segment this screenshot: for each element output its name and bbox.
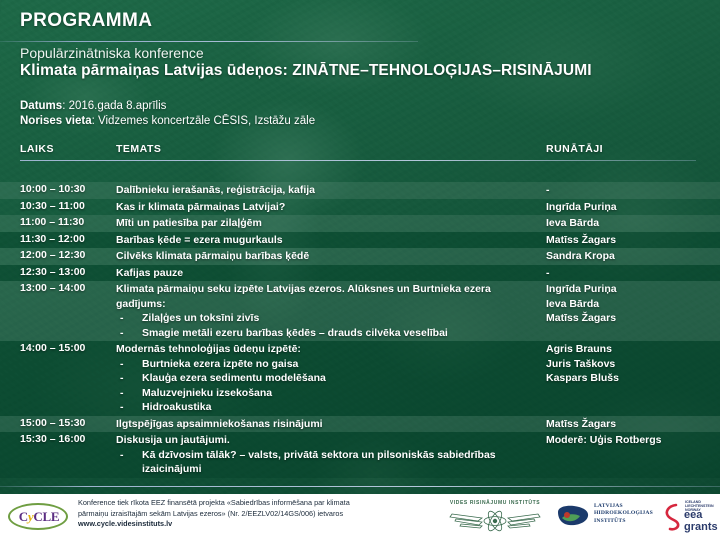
topic-subitem: -Maluzvejnieku izsekošana xyxy=(116,386,540,401)
speaker-name: Matīss Žagars xyxy=(546,417,716,432)
topic-subitem: -Kā dzīvosim tālāk? – valsts, privātā se… xyxy=(116,448,540,477)
table-row: 13:00 – 14:00Klimata pārmaiņu seku izpēt… xyxy=(0,281,720,341)
subitem-dash-icon: - xyxy=(120,326,124,341)
speaker-name: Juris Taškovs xyxy=(546,357,716,372)
speaker-name: Sandra Kropa xyxy=(546,249,716,264)
column-header-topic: TEMATS xyxy=(116,143,161,155)
cell-topic: Kas ir klimata pārmaiņas Latvijai? xyxy=(116,200,540,215)
speaker-name: Kaspars Blušs xyxy=(546,371,716,386)
cycle-letters-cle: CLE xyxy=(33,509,59,524)
table-row-inner: 10:30 – 11:00Kas ir klimata pārmaiņas La… xyxy=(0,199,720,216)
topic-subitem: -Hidroakustika xyxy=(116,400,540,415)
cell-speakers: - xyxy=(546,183,716,198)
slide: PROGRAMMA Populārzinātniska konference K… xyxy=(0,0,720,540)
table-row: 14:00 – 15:00Modernās tehnoloģijas ūdeņu… xyxy=(0,341,720,416)
lhei-emblem-icon xyxy=(556,504,590,528)
event-venue-line: Norises vieta: Vidzemes koncertzāle CĒSI… xyxy=(20,114,315,129)
cell-topic: Mīti un patiesība par zilaļģēm xyxy=(116,216,540,231)
cell-time: 10:00 – 10:30 xyxy=(20,183,112,195)
subtitle: Populārzinātniska konference xyxy=(20,45,204,61)
event-venue-value: : Vidzemes koncertzāle CĒSIS, Izstāžu zā… xyxy=(92,115,316,127)
speaker-name: Matīss Žagars xyxy=(546,311,716,326)
footer-line-1: Konference tiek rīkota EEZ finansētā pro… xyxy=(78,498,438,509)
event-date-value: : 2016.gada 8.aprīlis xyxy=(62,100,166,112)
eea-wordmark-line-2: grants xyxy=(684,522,718,534)
topic-main-text: Cilvēks klimata pārmaiņu barības ķēdē xyxy=(116,250,309,262)
cell-speakers: Moderē: Uģis Rotbergs xyxy=(546,433,716,448)
cell-topic: Kafijas pauze xyxy=(116,266,540,281)
table-row-inner: 14:00 – 15:00Modernās tehnoloģijas ūdeņu… xyxy=(0,341,720,416)
cell-speakers: Ieva Bārda xyxy=(546,216,716,231)
cell-speakers: Ingrīda Puriņa xyxy=(546,200,716,215)
event-meta: Datums: 2016.gada 8.aprīlis Norises viet… xyxy=(20,99,315,129)
lhei-label-line-1: LATVIJAS xyxy=(594,503,660,510)
table-row: 12:00 – 12:30Cilvēks klimata pārmaiņu ba… xyxy=(0,248,720,265)
cell-speakers: Matīss Žagars xyxy=(546,417,716,432)
table-row-inner: 11:00 – 11:30Mīti un patiesība par zilaļ… xyxy=(0,215,720,232)
table-row-inner: 15:00 – 15:30Ilgtspējīgas apsaimniekošan… xyxy=(0,416,720,433)
cell-topic: Ilgtspējīgas apsaimniekošanas risinājumi xyxy=(116,417,540,432)
topic-main-text: Klimata pārmaiņu seku izpēte Latvijas ez… xyxy=(116,283,491,310)
vides-risinajumu-instituts-logo: VIDES RISINĀJUMU INSTITŪTS xyxy=(448,500,542,534)
lhei-logo-label: LATVIJAS HIDROEKOLOĢIJAS INSTITŪTS xyxy=(594,503,660,525)
subitem-dash-icon: - xyxy=(120,311,124,326)
speaker-name: Ingrīda Puriņa xyxy=(546,200,716,215)
cell-speakers: Ingrīda PuriņaIeva BārdaMatīss Žagars xyxy=(546,282,716,326)
page-title: PROGRAMMA xyxy=(20,10,152,32)
cycle-logo: CyCLE xyxy=(8,500,70,534)
table-row-inner: 12:00 – 12:30Cilvēks klimata pārmaiņu ba… xyxy=(0,248,720,265)
speaker-name: Matīss Žagars xyxy=(546,233,716,248)
table-row: 10:00 – 10:30Dalībnieku ierašanās, reģis… xyxy=(0,182,720,199)
table-row: 12:30 – 13:00Kafijas pauze- xyxy=(0,265,720,282)
eea-grants-logo: ICELAND LIECHTENSTEIN NORWAY eea grants xyxy=(664,499,720,535)
cell-topic: Diskusija un jautājumi.-Kā dzīvosim tālā… xyxy=(116,433,540,477)
program-table: LAIKS TEMATS RUNĀTĀJI 10:00 – 10:30Dalīb… xyxy=(0,143,720,478)
cell-topic: Dalībnieku ierašanās, reģistrācija, kafi… xyxy=(116,183,540,198)
topic-main-text: Diskusija un jautājumi. xyxy=(116,434,230,446)
cell-speakers: Matīss Žagars xyxy=(546,233,716,248)
footer-line-2: pārmaiņu izraisītajām sekām Latvijas eze… xyxy=(78,509,438,520)
topic-subitem: -Zilaļģes un toksīni zivīs xyxy=(116,311,540,326)
table-header: LAIKS TEMATS RUNĀTĀJI xyxy=(0,143,720,160)
topic-main-text: Kafijas pauze xyxy=(116,267,183,279)
subitem-dash-icon: - xyxy=(120,448,124,463)
lhei-label-line-3: INSTITŪTS xyxy=(594,518,660,525)
conference-title: Klimata pārmaiņas Latvijas ūdeņos: ZINĀT… xyxy=(20,62,592,80)
cell-time: 14:00 – 15:00 xyxy=(20,342,112,354)
topic-main-text: Mīti un patiesība par zilaļģēm xyxy=(116,217,262,229)
topic-main-text: Kas ir klimata pārmaiņas Latvijai? xyxy=(116,201,285,213)
cell-time: 10:30 – 11:00 xyxy=(20,200,112,212)
speaker-name: - xyxy=(546,183,716,198)
cycle-wordmark: CyCLE xyxy=(8,509,70,525)
cell-speakers: Agris BraunsJuris TaškovsKaspars Blušs xyxy=(546,342,716,386)
table-header-divider xyxy=(20,160,696,161)
column-header-speakers: RUNĀTĀJI xyxy=(546,143,603,155)
table-row-inner: 10:00 – 10:30Dalībnieku ierašanās, reģis… xyxy=(0,182,720,199)
cell-topic: Barības ķēde = ezera mugurkauls xyxy=(116,233,540,248)
topic-main-text: Dalībnieku ierašanās, reģistrācija, kafi… xyxy=(116,184,315,196)
lhei-label-line-2: HIDROEKOLOĢIJAS xyxy=(594,510,660,517)
subitem-dash-icon: - xyxy=(120,371,124,386)
speaker-name: Ieva Bārda xyxy=(546,297,716,312)
speaker-name: Ieva Bārda xyxy=(546,216,716,231)
table-row-inner: 12:30 – 13:00Kafijas pauze- xyxy=(0,265,720,282)
table-row: 11:00 – 11:30Mīti un patiesība par zilaļ… xyxy=(0,215,720,232)
subitem-dash-icon: - xyxy=(120,357,124,372)
cell-speakers: - xyxy=(546,266,716,281)
cell-time: 12:00 – 12:30 xyxy=(20,249,112,261)
topic-main-text: Ilgtspējīgas apsaimniekošanas risinājumi xyxy=(116,418,323,430)
table-row-inner: 11:30 – 12:00Barības ķēde = ezera mugurk… xyxy=(0,232,720,249)
topic-main-text: Modernās tehnoloģijas ūdeņu izpētē: xyxy=(116,343,301,355)
table-row: 11:30 – 12:00Barības ķēde = ezera mugurk… xyxy=(0,232,720,249)
table-body: 10:00 – 10:30Dalībnieku ierašanās, reģis… xyxy=(0,182,720,478)
cell-speakers: Sandra Kropa xyxy=(546,249,716,264)
eea-wordmark: eea grants xyxy=(684,510,718,533)
table-row: 15:00 – 15:30Ilgtspējīgas apsaimniekošan… xyxy=(0,416,720,433)
speaker-name: Moderē: Uģis Rotbergs xyxy=(546,433,716,448)
topic-main-text: Barības ķēde = ezera mugurkauls xyxy=(116,234,283,246)
table-row: 10:30 – 11:00Kas ir klimata pārmaiņas La… xyxy=(0,199,720,216)
footer-divider xyxy=(0,486,720,487)
speaker-name: - xyxy=(546,266,716,281)
cell-time: 15:00 – 15:30 xyxy=(20,417,112,429)
topic-subitem: -Smagie metāli ezeru barības ķēdēs – dra… xyxy=(116,326,540,341)
latvijas-hidroekologijas-instituts-logo: LATVIJAS HIDROEKOLOĢIJAS INSTITŪTS xyxy=(556,501,660,533)
cell-topic: Cilvēks klimata pārmaiņu barības ķēdē xyxy=(116,249,540,264)
subitem-dash-icon: - xyxy=(120,400,124,415)
table-row-inner: 13:00 – 14:00Klimata pārmaiņu seku izpēt… xyxy=(0,281,720,341)
cell-topic: Modernās tehnoloģijas ūdeņu izpētē:-Burt… xyxy=(116,342,540,415)
cell-time: 11:00 – 11:30 xyxy=(20,216,112,228)
footer: CyCLE Konference tiek rīkota EEZ finansē… xyxy=(0,494,720,540)
event-venue-label: Norises vieta xyxy=(20,115,92,127)
speaker-name: Ingrīda Puriņa xyxy=(546,282,716,297)
event-date-label: Datums xyxy=(20,100,62,112)
vri-atom-wings-icon xyxy=(448,508,542,532)
table-row: 15:30 – 16:00Diskusija un jautājumi.-Kā … xyxy=(0,432,720,478)
topic-subitem: -Klauģa ezera sedimentu modelēšana xyxy=(116,371,540,386)
column-header-time: LAIKS xyxy=(20,143,54,155)
footer-url[interactable]: www.cycle.videsinstituts.lv xyxy=(78,519,438,530)
cell-topic: Klimata pārmaiņu seku izpēte Latvijas ez… xyxy=(116,282,540,340)
cell-time: 15:30 – 16:00 xyxy=(20,433,112,445)
footer-text: Konference tiek rīkota EEZ finansētā pro… xyxy=(78,498,438,530)
vri-logo-label: VIDES RISINĀJUMU INSTITŪTS xyxy=(448,500,542,506)
topic-subitem: -Burtnieka ezera izpēte no gaisa xyxy=(116,357,540,372)
cell-time: 12:30 – 13:00 xyxy=(20,266,112,278)
slide-content: PROGRAMMA Populārzinātniska konference K… xyxy=(0,0,720,540)
event-date-line: Datums: 2016.gada 8.aprīlis xyxy=(20,99,315,114)
eea-wordmark-line-1: eea xyxy=(684,510,718,522)
speaker-name: Agris Brauns xyxy=(546,342,716,357)
eea-hook-icon xyxy=(664,503,682,531)
subitem-dash-icon: - xyxy=(120,386,124,401)
table-row-inner: 15:30 – 16:00Diskusija un jautājumi.-Kā … xyxy=(0,432,720,478)
title-divider xyxy=(0,41,418,42)
cell-time: 11:30 – 12:00 xyxy=(20,233,112,245)
cell-time: 13:00 – 14:00 xyxy=(20,282,112,294)
cycle-letter-c: C xyxy=(19,509,28,524)
